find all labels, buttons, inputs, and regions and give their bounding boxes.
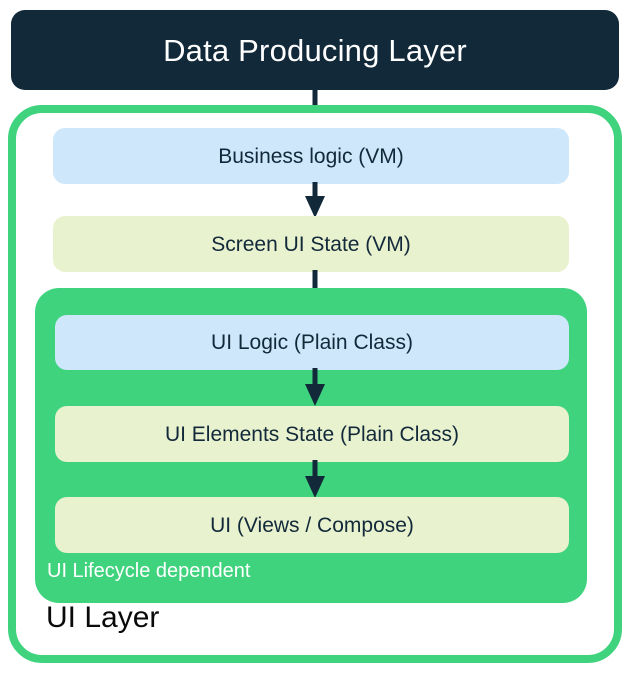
ui-lifecycle-dependent-caption: UI Lifecycle dependent bbox=[47, 561, 250, 581]
arrow-down-icon-2 bbox=[302, 182, 328, 218]
node-ui-views-compose-label: UI (Views / Compose) bbox=[210, 515, 414, 536]
node-ui-logic: UI Logic (Plain Class) bbox=[55, 315, 569, 370]
data-producing-layer-label: Data Producing Layer bbox=[163, 35, 467, 66]
arrow-down-icon-5 bbox=[302, 460, 328, 498]
arrow-down-icon-4 bbox=[302, 368, 328, 406]
node-business-logic: Business logic (VM) bbox=[53, 128, 569, 184]
node-ui-elements-state: UI Elements State (Plain Class) bbox=[55, 406, 569, 462]
node-screen-ui-state: Screen UI State (VM) bbox=[53, 216, 569, 272]
node-ui-elements-state-label: UI Elements State (Plain Class) bbox=[165, 424, 459, 445]
node-screen-ui-state-label: Screen UI State (VM) bbox=[211, 234, 411, 255]
node-ui-views-compose: UI (Views / Compose) bbox=[55, 497, 569, 553]
data-producing-layer-box: Data Producing Layer bbox=[11, 10, 619, 90]
diagram-canvas: Data Producing Layer Business logic (VM)… bbox=[0, 0, 630, 674]
node-ui-logic-label: UI Logic (Plain Class) bbox=[211, 332, 413, 353]
ui-layer-title: UI Layer bbox=[46, 603, 159, 633]
node-business-logic-label: Business logic (VM) bbox=[218, 146, 404, 167]
